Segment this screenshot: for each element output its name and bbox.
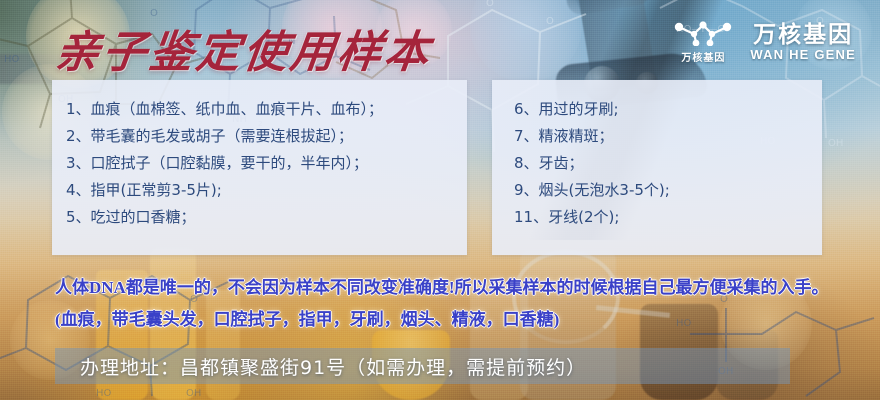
list-item: 3、口腔拭子（口腔黏膜，要干的，半年内）； [66,150,467,177]
list-item: 11、牙线(2个); [514,204,822,231]
address-text: 办理地址：昌都镇聚盛街91号（如需办理，需提前预约） [80,353,586,380]
brand-logo: 万核基因 万核基因 WAN HE GENE [672,20,856,64]
brand-mark-label: 万核基因 [681,49,725,64]
sample-lists: 1、血痕（血棉签、纸巾血、血痕干片、血布）； 2、带毛囊的毛发或胡子（需要连根拔… [52,80,822,255]
list-item: 8、牙齿； [514,150,822,177]
poster-root: HO OH O N NH 2 O O O OH HO HO—P—O HO O O… [0,0,880,400]
list-item: 4、指甲(正常剪3-5片); [66,177,467,204]
poster-content: 亲子鉴定使用样本 [0,0,880,400]
list-item: 2、带毛囊的毛发或胡子（需要连根拔起）； [66,123,467,150]
sample-list-left: 1、血痕（血棉签、纸巾血、血痕干片、血布）； 2、带毛囊的毛发或胡子（需要连根拔… [52,80,467,231]
list-item: 1、血痕（血棉签、纸巾血、血痕干片、血布）； [66,96,467,123]
page-title: 亲子鉴定使用样本 [52,16,436,80]
list-item: 6、用过的牙刷; [514,96,822,123]
sample-list-right-panel: 6、用过的牙刷; 7、精液精斑； 8、牙齿； 9、烟头(无泡水3-5个); 11… [492,80,822,255]
accuracy-note: 人体DNA都是唯一的，不会因为样本不同改变准确度!所以采集样本的时候根据自己最方… [55,272,845,336]
sample-list-right: 6、用过的牙刷; 7、精液精斑； 8、牙齿； 9、烟头(无泡水3-5个); 11… [492,80,822,231]
list-item: 7、精液精斑； [514,123,822,150]
brand-name-en: WAN HE GENE [750,47,856,62]
list-item: 9、烟头(无泡水3-5个); [514,177,822,204]
list-item: 5、吃过的口香糖； [66,204,467,231]
sample-list-left-panel: 1、血痕（血棉签、纸巾血、血痕干片、血布）； 2、带毛囊的毛发或胡子（需要连根拔… [52,80,467,255]
brand-wordmark: 万核基因 WAN HE GENE [750,22,856,62]
address-bar: 办理地址：昌都镇聚盛街91号（如需办理，需提前预约） [55,348,790,384]
molecule-icon [672,20,734,46]
brand-mark: 万核基因 [672,20,734,64]
brand-name-cn: 万核基因 [753,22,853,47]
